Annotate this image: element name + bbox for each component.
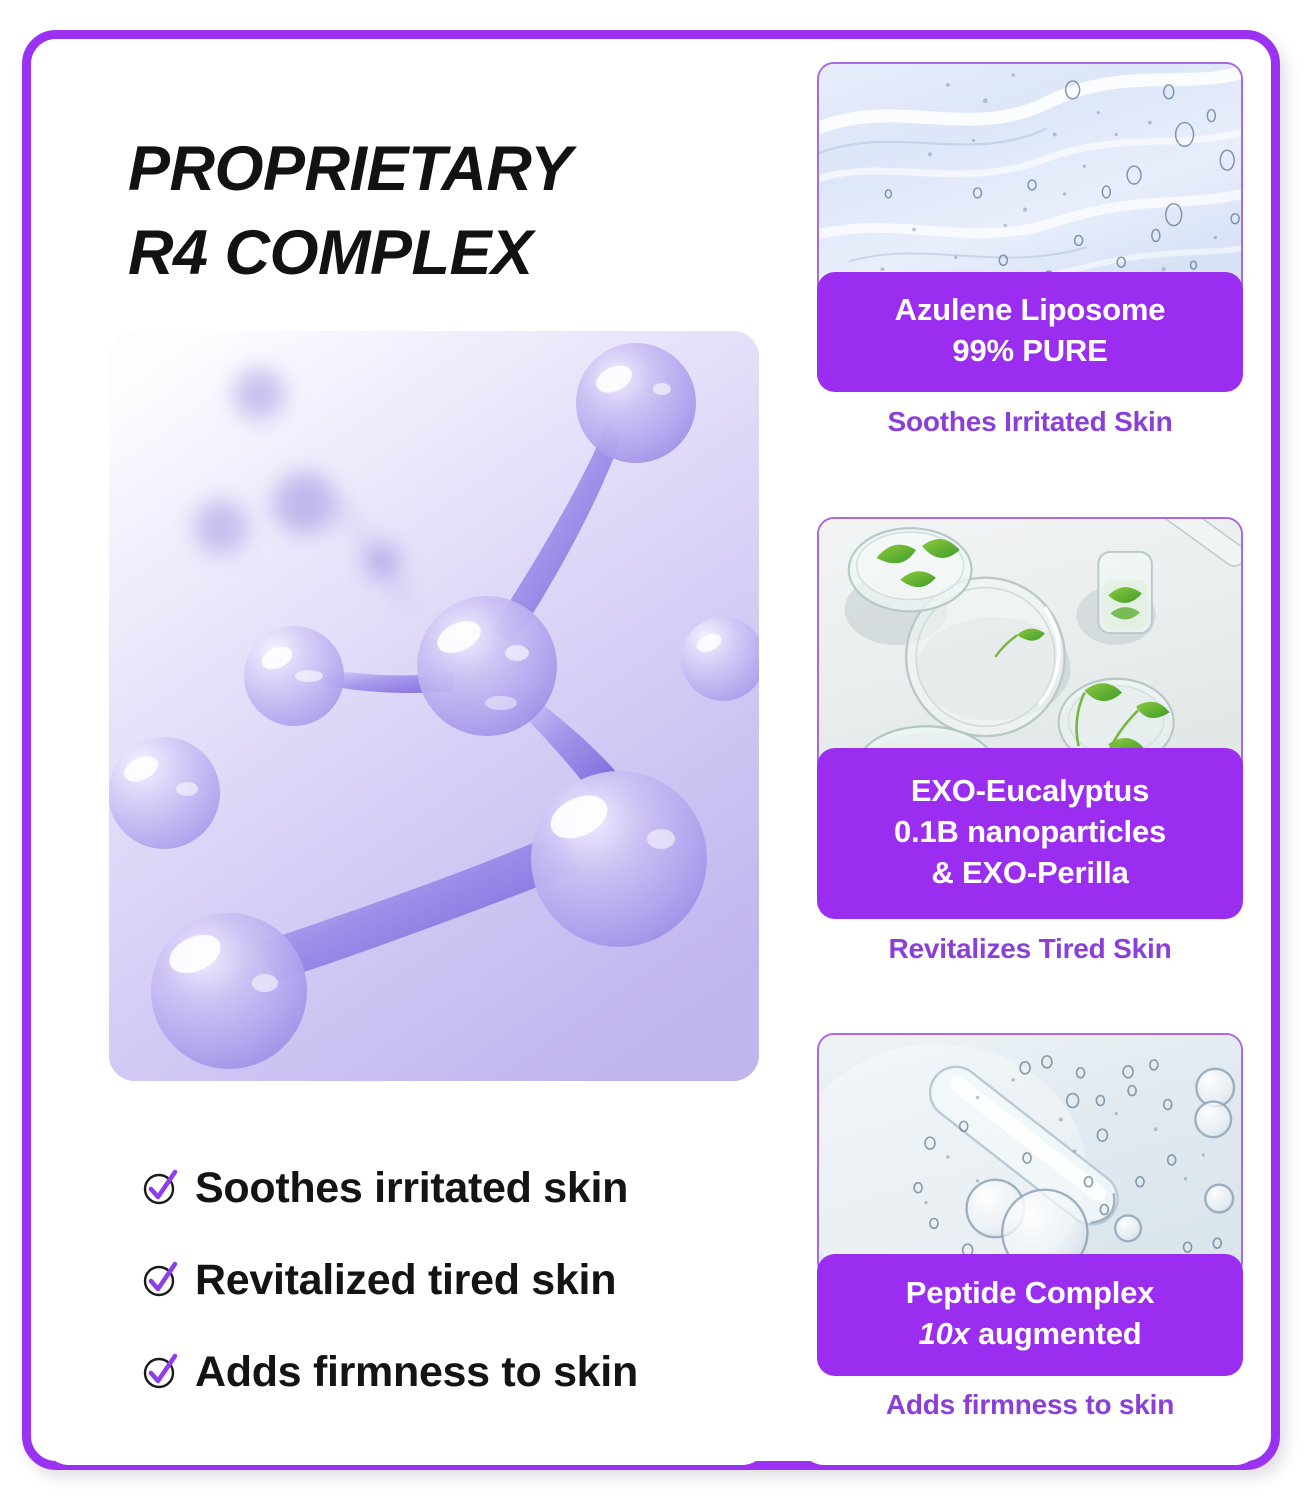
banner-line: 10x augmented xyxy=(918,1314,1141,1355)
benefit-label: Adds firmness to skin xyxy=(195,1348,638,1397)
check-circle-icon xyxy=(141,1351,181,1391)
banner-line: 0.1B nanoparticles xyxy=(894,812,1166,853)
check-circle-icon xyxy=(141,1259,181,1299)
feature-card-peptide-complex: Peptide Complex 10x augmented Adds firmn… xyxy=(800,1021,1260,1465)
banner-line: Peptide Complex xyxy=(906,1273,1155,1314)
benefit-label: Soothes irritated skin xyxy=(195,1164,628,1213)
card-caption: Revitalizes Tired Skin xyxy=(800,933,1260,965)
list-item: Adds firmness to skin xyxy=(141,1334,741,1410)
page-title: PROPRIETARY R4 COMPLEX xyxy=(128,128,748,296)
card-banner: Azulene Liposome 99% PURE xyxy=(817,272,1243,392)
frame-inner: PROPRIETARY R4 COMPLEX xyxy=(31,39,1271,1461)
gel-texture-photo xyxy=(817,62,1243,302)
card-caption: Soothes Irritated Skin xyxy=(800,406,1260,438)
card-banner: EXO-Eucalyptus 0.1B nanoparticles & EXO-… xyxy=(817,748,1243,919)
infographic-frame: PROPRIETARY R4 COMPLEX xyxy=(22,30,1280,1470)
petri-dish-photo xyxy=(817,517,1243,785)
feature-card-exo-eucalyptus: EXO-Eucalyptus 0.1B nanoparticles & EXO-… xyxy=(800,505,1260,1003)
list-item: Revitalized tired skin xyxy=(141,1242,741,1318)
benefit-label: Revitalized tired skin xyxy=(195,1256,616,1305)
banner-line-rest: augmented xyxy=(970,1316,1142,1351)
gel-texture-illustration xyxy=(819,64,1241,300)
page-title-line-1: PROPRIETARY xyxy=(128,128,748,212)
banner-emphasis: 10x xyxy=(918,1316,969,1351)
benefits-list: Soothes irritated skin Revitalized tired… xyxy=(141,1150,741,1426)
banner-line: Azulene Liposome xyxy=(895,290,1166,331)
banner-line: & EXO-Perilla xyxy=(931,853,1128,894)
list-item: Soothes irritated skin xyxy=(141,1150,741,1226)
feature-card-azulene: Azulene Liposome 99% PURE Soothes Irrita… xyxy=(800,50,1260,487)
serum-dropper-illustration xyxy=(819,1035,1241,1277)
check-circle-icon xyxy=(141,1167,181,1207)
page-title-line-2: R4 COMPLEX xyxy=(128,212,748,296)
molecule-illustration xyxy=(109,331,759,1081)
left-panel: PROPRIETARY R4 COMPLEX xyxy=(43,50,768,1465)
petri-dish-illustration xyxy=(819,519,1241,783)
card-banner: Peptide Complex 10x augmented xyxy=(817,1254,1243,1376)
banner-line: 99% PURE xyxy=(952,331,1107,372)
molecule-hero-image xyxy=(109,331,759,1081)
feature-cards-column: Azulene Liposome 99% PURE Soothes Irrita… xyxy=(791,50,1269,1465)
banner-line: EXO-Eucalyptus xyxy=(911,771,1149,812)
card-caption: Adds firmness to skin xyxy=(800,1389,1260,1421)
serum-dropper-photo xyxy=(817,1033,1243,1279)
